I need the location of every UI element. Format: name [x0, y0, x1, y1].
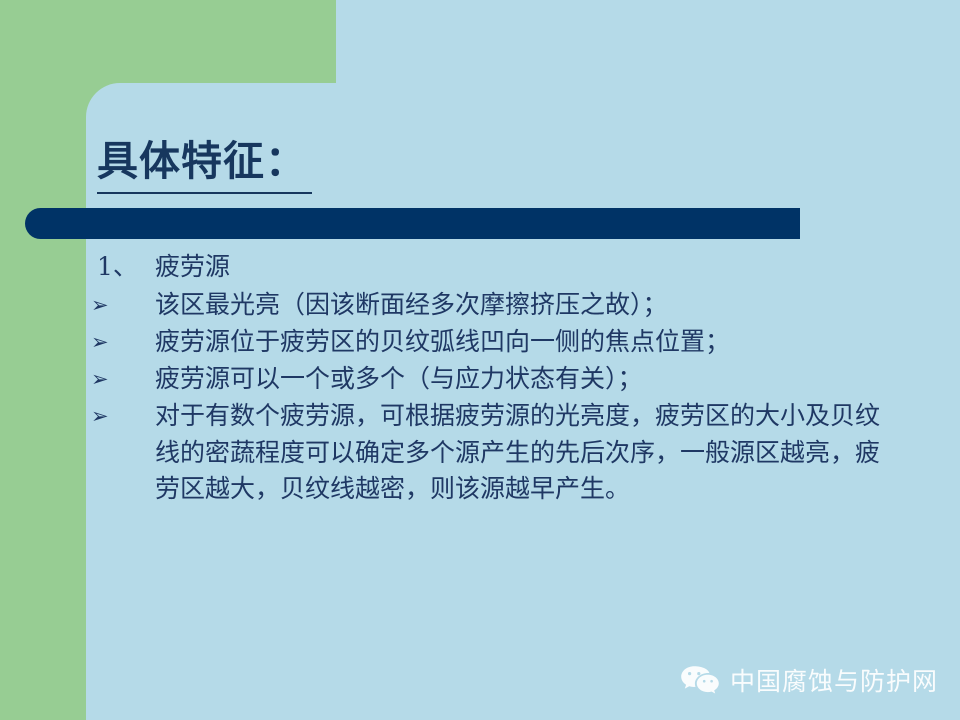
top-right-blue-strip: [336, 0, 960, 83]
list-item-text: 疲劳源位于疲劳区的贝纹弧线凹向一侧的焦点位置；: [155, 327, 730, 356]
list-item-text: 该区最光亮（因该断面经多次摩擦挤压之故）；: [155, 290, 668, 319]
title-underline: [97, 192, 312, 194]
list-item: ➢该区最光亮（因该断面经多次摩擦挤压之故）；: [97, 287, 887, 323]
arrow-bullet-icon: ➢: [123, 364, 155, 394]
list-item: ➢疲劳源位于疲劳区的贝纹弧线凹向一侧的焦点位置；: [97, 324, 887, 360]
accent-bar: [25, 208, 800, 239]
body-content: 1、疲劳源 ➢该区最光亮（因该断面经多次摩擦挤压之故）； ➢疲劳源位于疲劳区的贝…: [97, 250, 887, 508]
numbered-heading-number: 1、: [97, 250, 155, 285]
slide-canvas: 具体特征： 1、疲劳源 ➢该区最光亮（因该断面经多次摩擦挤压之故）； ➢疲劳源位…: [0, 0, 960, 720]
bullet-list: ➢该区最光亮（因该断面经多次摩擦挤压之故）； ➢疲劳源位于疲劳区的贝纹弧线凹向一…: [97, 287, 887, 508]
watermark: 中国腐蚀与防护网: [680, 662, 938, 698]
arrow-bullet-icon: ➢: [123, 401, 155, 431]
numbered-heading: 1、疲劳源: [97, 250, 887, 285]
left-green-strip: [0, 83, 86, 720]
green-background-block: [0, 0, 336, 83]
list-item-text: 对于有数个疲劳源，可根据疲劳源的光亮度，疲劳区的大小及贝纹线的密蔬程度可以确定多…: [155, 401, 880, 503]
page-title: 具体特征：: [97, 138, 307, 185]
wechat-icon: [680, 664, 720, 696]
list-item: ➢疲劳源可以一个或多个（与应力状态有关）；: [97, 361, 887, 397]
list-item-text: 疲劳源可以一个或多个（与应力状态有关）；: [155, 364, 643, 393]
watermark-label: 中国腐蚀与防护网: [730, 662, 938, 698]
arrow-bullet-icon: ➢: [123, 290, 155, 320]
numbered-heading-label: 疲劳源: [155, 252, 230, 281]
arrow-bullet-icon: ➢: [123, 327, 155, 357]
list-item: ➢对于有数个疲劳源，可根据疲劳源的光亮度，疲劳区的大小及贝纹线的密蔬程度可以确定…: [97, 398, 887, 507]
